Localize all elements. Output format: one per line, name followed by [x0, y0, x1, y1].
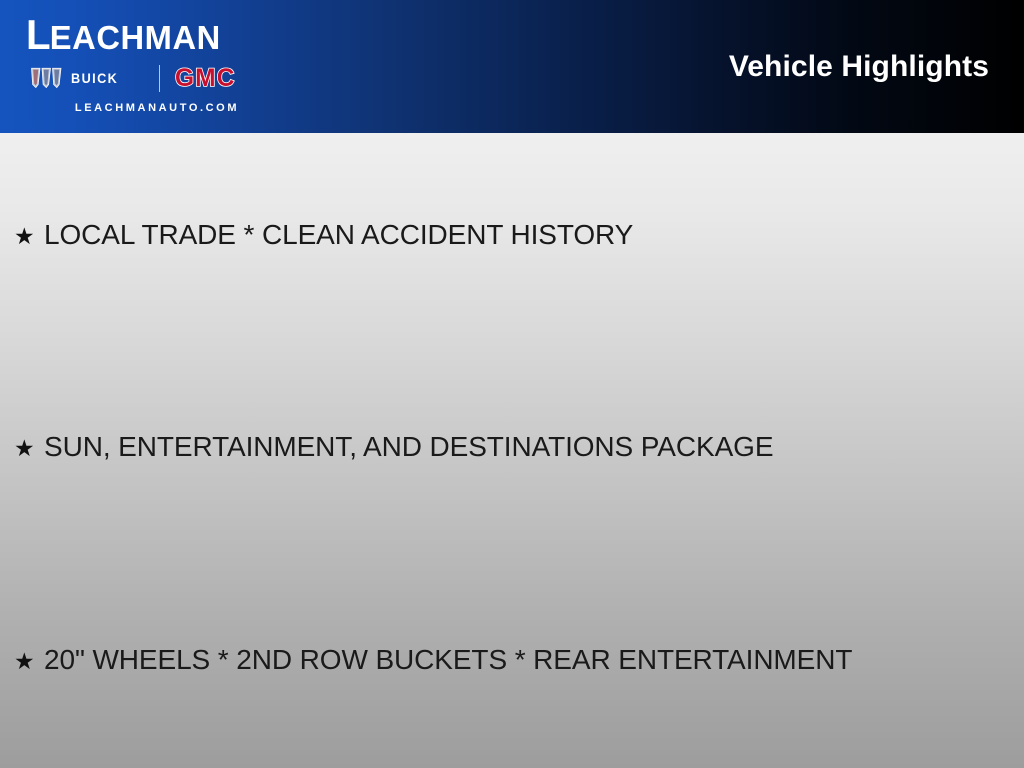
brand-divider	[159, 65, 160, 92]
highlight-text: SUN, ENTERTAINMENT, AND DESTINATIONS PAC…	[44, 430, 773, 464]
star-bullet-icon: ★	[14, 645, 44, 679]
dealer-website-url[interactable]: LEACHMANAUTO.COM	[26, 102, 288, 115]
list-item: ★ 20" WHEELS * 2ND ROW BUCKETS * REAR EN…	[14, 643, 852, 679]
gmc-wordmark-icon: GMC	[173, 65, 279, 91]
star-bullet-icon: ★	[14, 432, 44, 466]
page-header: L EACHMAN	[0, 0, 1024, 133]
buick-wordmark-icon: BUICK	[71, 71, 145, 85]
list-item: ★ LOCAL TRADE * CLEAN ACCIDENT HISTORY	[14, 218, 633, 254]
svg-text:L: L	[26, 13, 50, 57]
highlight-text: LOCAL TRADE * CLEAN ACCIDENT HISTORY	[44, 218, 633, 252]
list-item: ★ SUN, ENTERTAINMENT, AND DESTINATIONS P…	[14, 430, 773, 466]
svg-text:EACHMAN: EACHMAN	[50, 19, 221, 56]
buick-trishield-icon	[30, 66, 64, 90]
dealer-logo[interactable]: L EACHMAN	[26, 13, 288, 123]
leachman-wordmark-icon: L EACHMAN	[26, 13, 288, 57]
svg-text:BUICK: BUICK	[71, 71, 118, 85]
vehicle-highlights-page: L EACHMAN	[0, 0, 1024, 768]
buick-logo: BUICK	[30, 66, 145, 90]
highlights-content: ★ LOCAL TRADE * CLEAN ACCIDENT HISTORY ★…	[0, 133, 1024, 768]
page-title: Vehicle Highlights	[729, 50, 989, 84]
star-bullet-icon: ★	[14, 220, 44, 254]
brand-lockup-row: BUICK GMC	[26, 61, 288, 95]
highlight-text: 20" WHEELS * 2ND ROW BUCKETS * REAR ENTE…	[44, 643, 852, 677]
svg-text:GMC: GMC	[175, 65, 236, 91]
